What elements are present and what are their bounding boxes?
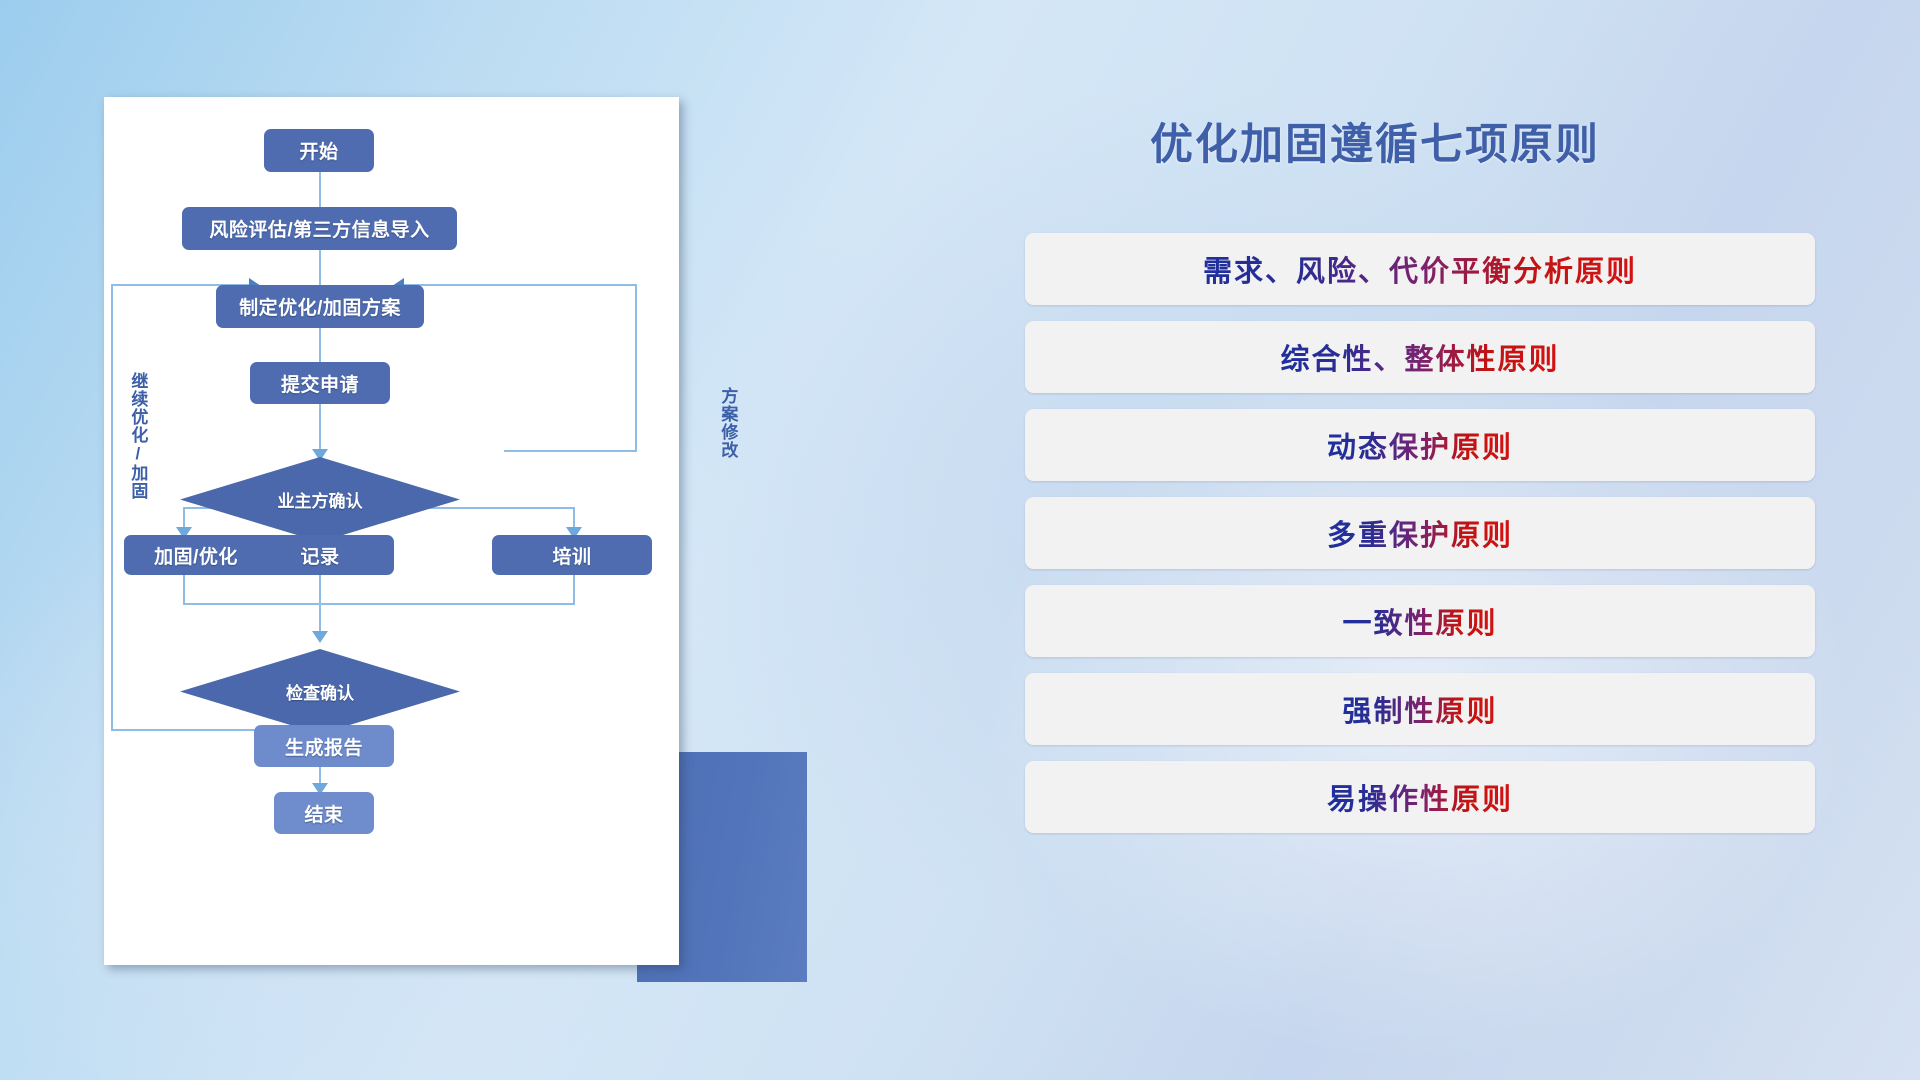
node-owner-confirm[interactable]: 业主方确认: [180, 457, 460, 542]
arrow-merge-check: [312, 631, 328, 643]
connector-right-loop-vertical: [635, 284, 637, 452]
edge-label-continue-optimize: 继续优化/加固: [128, 372, 146, 500]
node-end[interactable]: 结束: [274, 792, 374, 834]
connector-reinforce-merge: [183, 575, 185, 605]
principle-card-5[interactable]: 一致性原则: [1025, 585, 1815, 657]
principle-label-2: 综合性、整体性原则: [1280, 336, 1559, 378]
principle-card-7[interactable]: 易操作性原则: [1025, 761, 1815, 833]
edge-label-plan-revise: 方案修改: [718, 387, 736, 459]
principle-card-3[interactable]: 动态保护原则: [1025, 409, 1815, 481]
principle-label-6: 强制性原则: [1342, 688, 1497, 730]
node-check-confirm[interactable]: 检查确认: [180, 649, 460, 734]
principle-card-6[interactable]: 强制性原则: [1025, 673, 1815, 745]
node-check-confirm-label: 检查确认: [286, 679, 354, 704]
node-training[interactable]: 培训: [492, 535, 652, 575]
principle-card-4[interactable]: 多重保护原则: [1025, 497, 1815, 569]
node-generate-report[interactable]: 生成报告: [254, 725, 394, 767]
principle-label-3: 动态保护原则: [1327, 424, 1513, 466]
connector-left-loop-vertical: [111, 284, 113, 731]
principle-label-1: 需求、风险、代价平衡分析原则: [1203, 248, 1637, 290]
node-record[interactable]: 记录: [246, 535, 394, 575]
flowchart-card: 继续优化/加固 方案修改 开始 风险评估/第三方信息导入 制定优化/加固方案 提…: [104, 97, 679, 965]
node-start[interactable]: 开始: [264, 129, 374, 172]
connector-record-check: [319, 575, 321, 637]
node-make-plan[interactable]: 制定优化/加固方案: [216, 285, 424, 328]
principle-label-4: 多重保护原则: [1327, 512, 1513, 554]
node-submit-application[interactable]: 提交申请: [250, 362, 390, 404]
node-owner-confirm-label: 业主方确认: [278, 487, 363, 512]
connector-merge-bus: [183, 603, 575, 605]
connector-right-loop-top: [404, 284, 637, 286]
connector-training-merge: [573, 575, 575, 605]
node-risk-assessment[interactable]: 风险评估/第三方信息导入: [182, 207, 457, 250]
panel-title: 优化加固遵循七项原则: [1150, 110, 1850, 172]
principles-list: 需求、风险、代价平衡分析原则 综合性、整体性原则 动态保护原则 多重保护原则 一…: [1025, 233, 1815, 849]
principle-label-5: 一致性原则: [1342, 600, 1497, 642]
connector-right-loop-bottom: [504, 450, 637, 452]
slide-canvas: 继续优化/加固 方案修改 开始 风险评估/第三方信息导入 制定优化/加固方案 提…: [0, 0, 1920, 1080]
principle-label-7: 易操作性原则: [1327, 776, 1513, 818]
principle-card-2[interactable]: 综合性、整体性原则: [1025, 321, 1815, 393]
principle-card-1[interactable]: 需求、风险、代价平衡分析原则: [1025, 233, 1815, 305]
